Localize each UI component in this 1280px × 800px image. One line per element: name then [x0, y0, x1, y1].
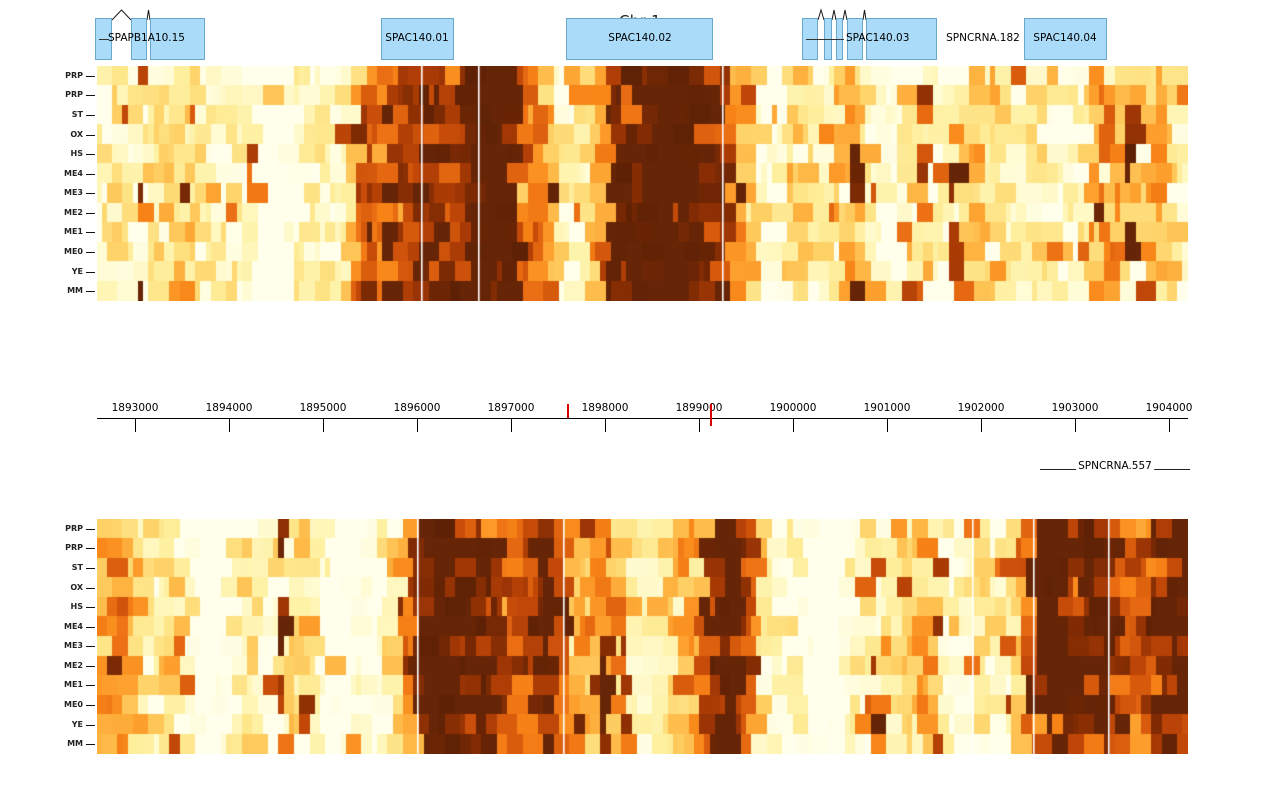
- ncrna-feature-spncrna557[interactable]: SPNCRNA.557: [1040, 460, 1190, 480]
- row-label-st-2: ST: [72, 564, 83, 572]
- gene-label-spncrna.182: SPNCRNA.182: [946, 32, 1020, 44]
- row-tick-8: [86, 232, 95, 233]
- row-tick-0: [86, 529, 95, 530]
- top-heatmap-canvas[interactable]: [97, 66, 1188, 301]
- axis-tick-label-1894000: 1894000: [206, 402, 253, 414]
- bottom-heatmap[interactable]: [97, 519, 1188, 754]
- row-tick-6: [86, 193, 95, 194]
- row-tick-9: [86, 705, 95, 706]
- axis-tick-label-1897000: 1897000: [488, 402, 535, 414]
- row-label-ox-3: OX: [70, 131, 83, 139]
- row-tick-3: [86, 588, 95, 589]
- axis-tick-1902000: [981, 418, 982, 432]
- row-tick-4: [86, 607, 95, 608]
- axis-tick-1900000: [793, 418, 794, 432]
- gene-label-spapb1a10.15: SPAPB1A10.15: [108, 32, 185, 44]
- ncrna-feature-label: SPNCRNA.557: [1076, 460, 1154, 472]
- row-label-me3-6: ME3: [64, 642, 83, 650]
- row-label-me3-6: ME3: [64, 189, 83, 197]
- row-label-me0-9: ME0: [64, 248, 83, 256]
- row-label-hs-4: HS: [71, 150, 83, 158]
- bottom-heatmap-row-labels: PRPPRPSTOXHSME4ME3ME2ME1ME0YEMM: [0, 519, 97, 754]
- row-label-prp-1: PRP: [65, 91, 83, 99]
- axis-tick-label-1900000: 1900000: [770, 402, 817, 414]
- row-tick-4: [86, 154, 95, 155]
- axis-tick-1895000: [323, 418, 324, 432]
- row-label-me4-5: ME4: [64, 623, 83, 631]
- gene-label-spac140.04: SPAC140.04: [1033, 32, 1096, 44]
- red-marker-2[interactable]: [710, 404, 712, 426]
- axis-tick-1893000: [135, 418, 136, 432]
- row-tick-5: [86, 627, 95, 628]
- axis-line: [97, 418, 1188, 419]
- row-label-me4-5: ME4: [64, 170, 83, 178]
- row-tick-7: [86, 666, 95, 667]
- row-tick-8: [86, 685, 95, 686]
- row-tick-3: [86, 135, 95, 136]
- row-label-me0-9: ME0: [64, 701, 83, 709]
- row-label-prp-1: PRP: [65, 544, 83, 552]
- row-label-st-2: ST: [72, 111, 83, 119]
- axis-tick-label-1901000: 1901000: [864, 402, 911, 414]
- axis-tick-label-1899000: 1899000: [676, 402, 723, 414]
- gene-label-spac140.01: SPAC140.01: [385, 32, 448, 44]
- axis-tick-label-1902000: 1902000: [958, 402, 1005, 414]
- row-tick-10: [86, 272, 95, 273]
- row-tick-5: [86, 174, 95, 175]
- axis-tick-label-1896000: 1896000: [394, 402, 441, 414]
- row-tick-2: [86, 115, 95, 116]
- axis-tick-1894000: [229, 418, 230, 432]
- row-label-hs-4: HS: [71, 603, 83, 611]
- top-heatmap-row-labels: PRPPRPSTOXHSME4ME3ME2ME1ME0YEMM: [0, 66, 97, 301]
- axis-tick-label-1898000: 1898000: [582, 402, 629, 414]
- gene-label-spac140.02: SPAC140.02: [608, 32, 671, 44]
- axis-tick-label-1904000: 1904000: [1146, 402, 1193, 414]
- row-label-me1-8: ME1: [64, 228, 83, 236]
- row-label-me2-7: ME2: [64, 662, 83, 670]
- red-marker-1[interactable]: [567, 404, 569, 418]
- axis-tick-label-1895000: 1895000: [300, 402, 347, 414]
- gene-leader-spac140.03: [806, 39, 844, 40]
- bottom-heatmap-canvas[interactable]: [97, 519, 1188, 754]
- gene-label-spac140.03: SPAC140.03: [846, 32, 909, 44]
- top-heatmap[interactable]: [97, 66, 1188, 301]
- row-tick-10: [86, 725, 95, 726]
- axis-tick-1903000: [1075, 418, 1076, 432]
- coordinate-axis[interactable]: 1893000189400018950001896000189700018980…: [0, 396, 1280, 442]
- axis-tick-1898000: [605, 418, 606, 432]
- row-label-me2-7: ME2: [64, 209, 83, 217]
- row-tick-7: [86, 213, 95, 214]
- row-tick-9: [86, 252, 95, 253]
- intron-spapb1a10.15-0: [112, 8, 131, 22]
- axis-tick-label-1893000: 1893000: [112, 402, 159, 414]
- axis-tick-1897000: [511, 418, 512, 432]
- row-tick-6: [86, 646, 95, 647]
- axis-tick-1904000: [1169, 418, 1170, 432]
- row-label-ye-10: YE: [72, 268, 83, 276]
- row-label-prp-0: PRP: [65, 525, 83, 533]
- axis-tick-1901000: [887, 418, 888, 432]
- row-label-ye-10: YE: [72, 721, 83, 729]
- row-tick-11: [86, 744, 95, 745]
- row-tick-1: [86, 548, 95, 549]
- row-tick-2: [86, 568, 95, 569]
- row-label-ox-3: OX: [70, 584, 83, 592]
- row-label-mm-11: MM: [67, 740, 83, 748]
- axis-tick-label-1903000: 1903000: [1052, 402, 1099, 414]
- row-label-me1-8: ME1: [64, 681, 83, 689]
- row-label-mm-11: MM: [67, 287, 83, 295]
- gene-annotation-track[interactable]: SPAPB1A10.15SPAC140.01SPAC140.02SPAC140.…: [0, 0, 1280, 78]
- row-tick-11: [86, 291, 95, 292]
- row-tick-1: [86, 95, 95, 96]
- axis-tick-1896000: [417, 418, 418, 432]
- axis-tick-1899000: [699, 418, 700, 432]
